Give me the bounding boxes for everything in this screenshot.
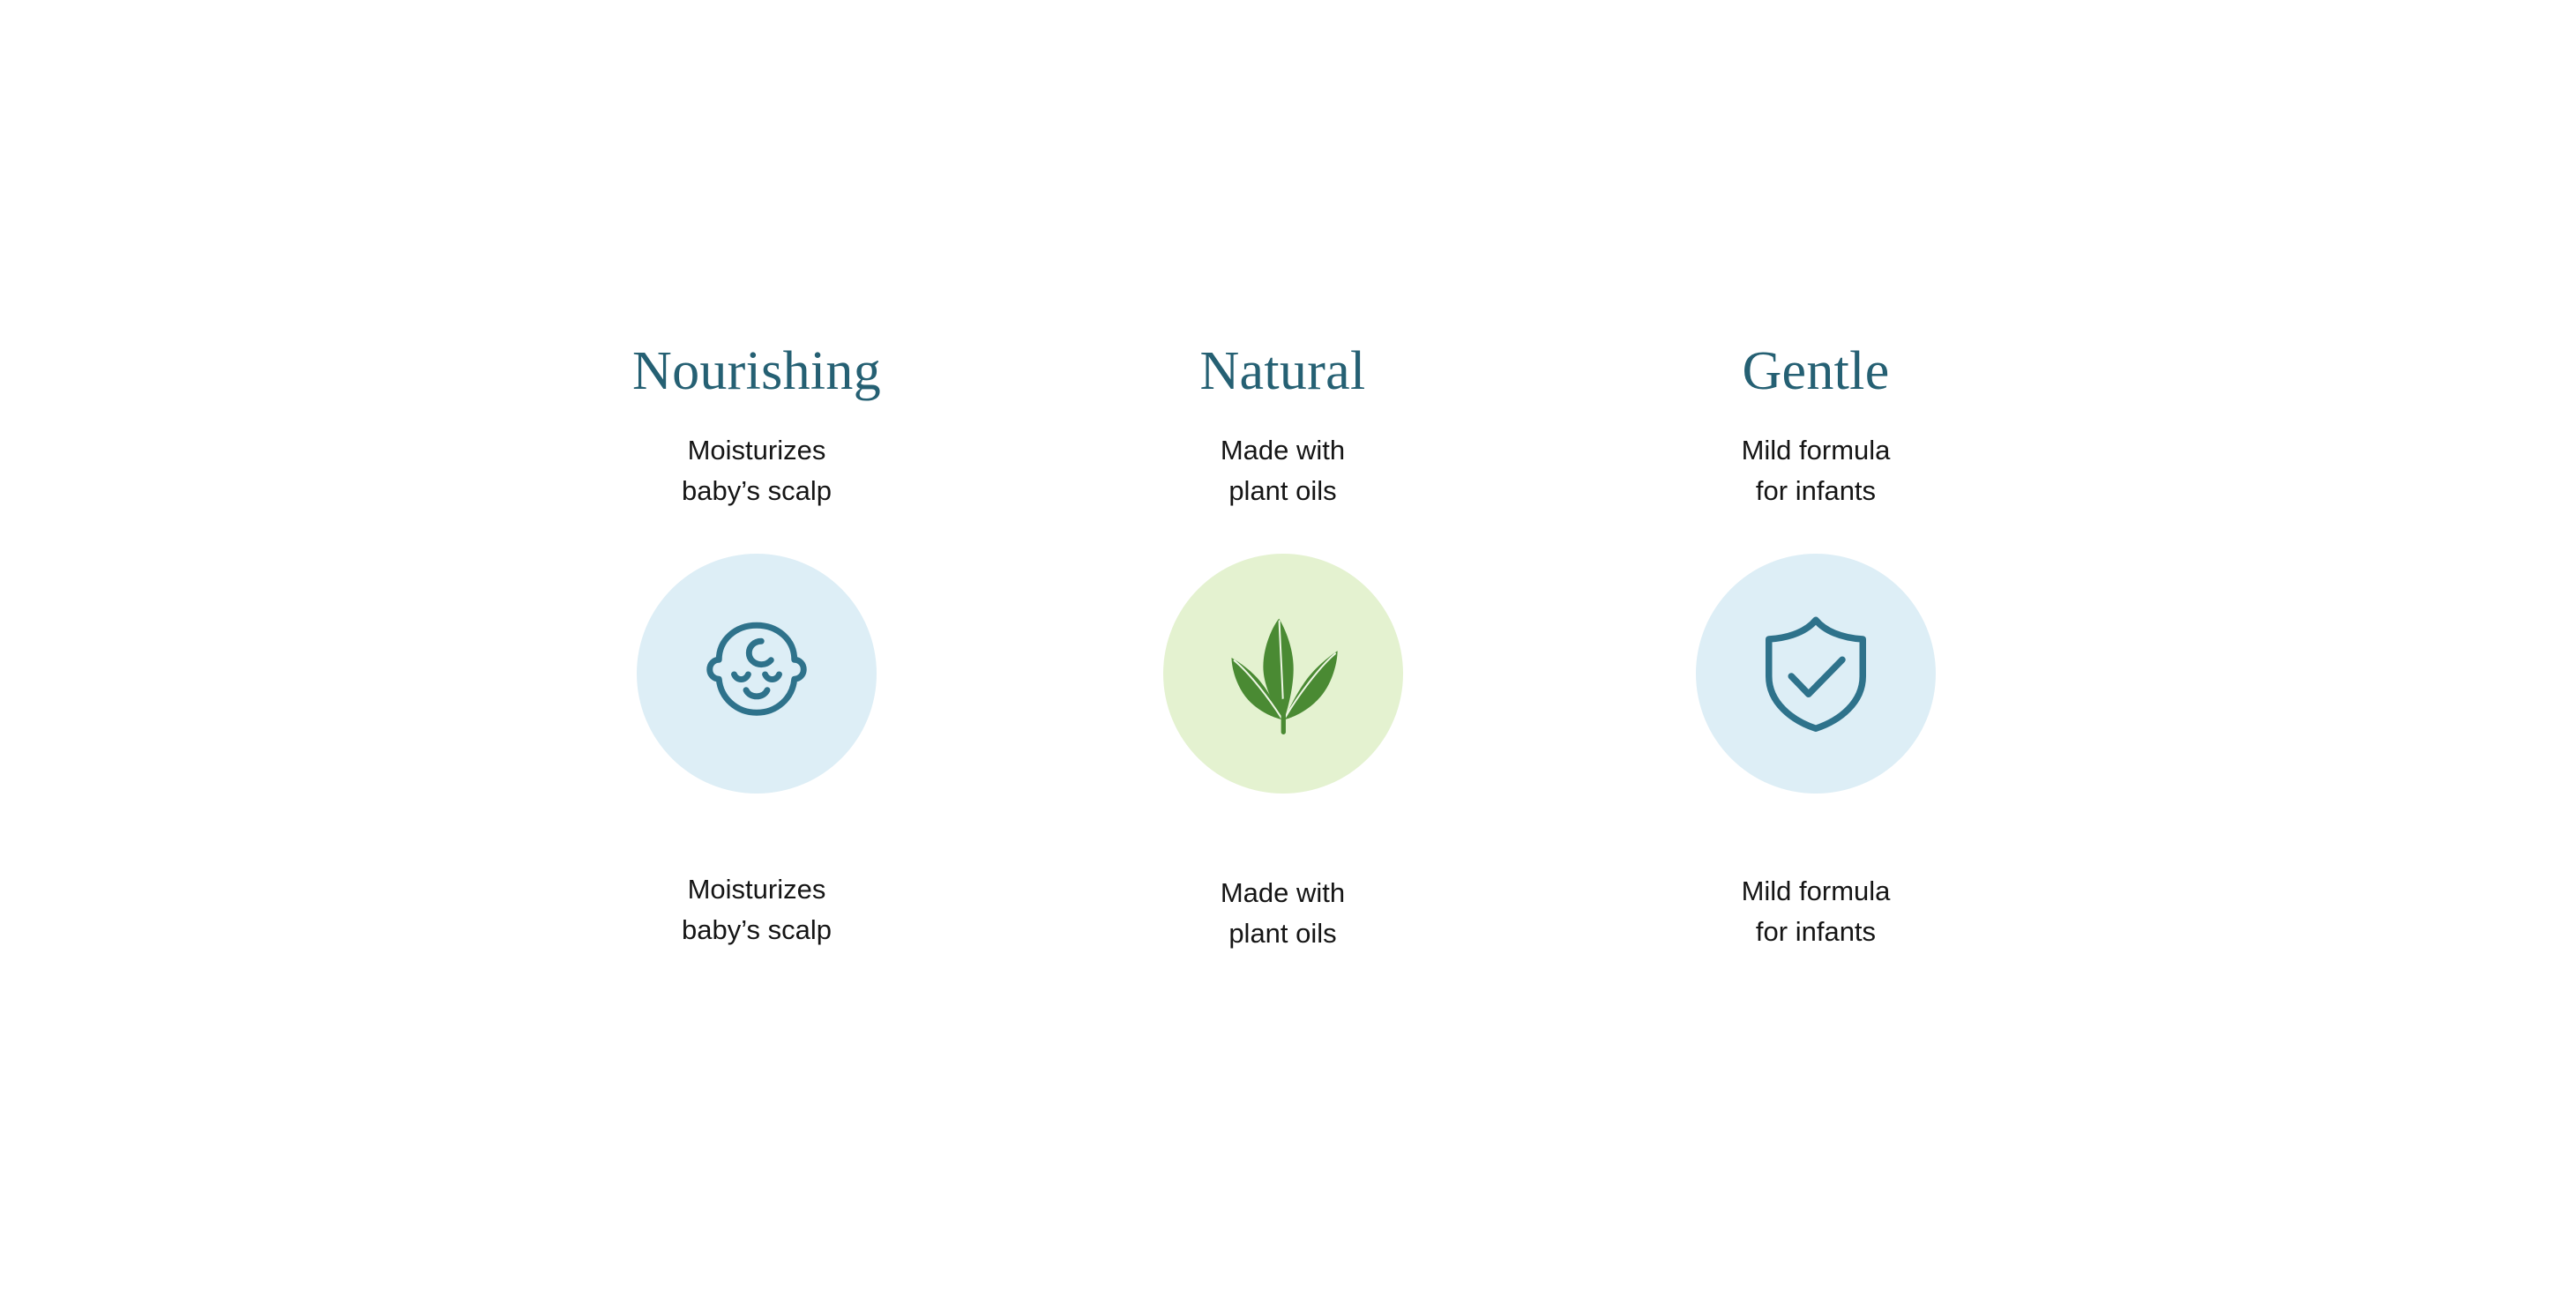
icon-badge-gentle [1696,554,1936,794]
leaf-icon [1214,605,1352,742]
benefit-heading-nourishing: Nourishing [632,344,881,409]
benefit-column-natural: Natural Made with plant oils [1063,344,1504,954]
benefit-caption-nourishing: Moisturizes baby’s scalp [682,869,832,950]
icon-badge-nourishing [637,554,877,794]
baby-face-icon [691,607,823,740]
benefit-column-gentle: Gentle Mild formula for infants Mild for… [1595,344,2036,952]
benefit-columns-row: Nourishing Moisturizes baby’s scalp [536,344,2040,954]
benefits-board: Nourishing Moisturizes baby’s scalp [0,0,2576,1304]
benefit-heading-natural: Natural [1199,344,1365,409]
benefit-column-nourishing: Nourishing Moisturizes baby’s scalp [536,344,977,950]
icon-badge-natural [1163,554,1403,794]
benefit-caption-gentle: Mild formula for infants [1742,871,1891,952]
benefit-caption-natural: Made with plant oils [1221,873,1345,954]
benefit-subtext-nourishing: Moisturizes baby’s scalp [682,430,832,511]
benefit-subtext-natural: Made with plant oils [1221,430,1345,511]
benefit-subtext-gentle: Mild formula for infants [1742,430,1891,511]
benefit-heading-gentle: Gentle [1742,344,1889,409]
shield-check-icon [1750,607,1882,740]
